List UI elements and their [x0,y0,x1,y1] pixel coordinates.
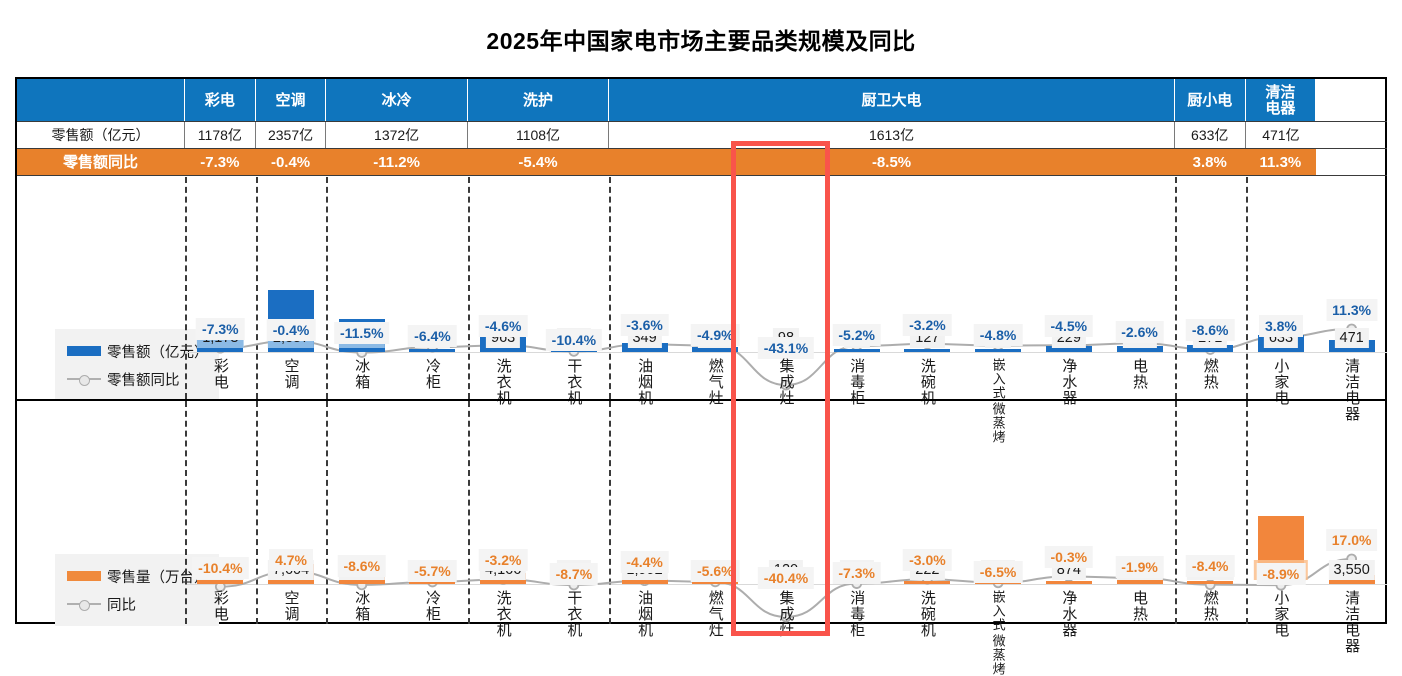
chart-column-3: 102-6.4%冷柜 [397,177,468,399]
chart-column-6: 349-3.6%油烟机 [609,177,680,399]
table-cell-yoy-5: 3.8% [1175,149,1246,176]
chart-column-10: 127-3.2%洗碗机 [892,177,963,399]
chart-column-10: 222-3.0%洗碗机 [892,401,963,622]
legend-line-marker-icon [67,599,101,609]
plot-area-retail-amount: 1,178-7.3%彩电2,357-0.4%空调1,271-11.5%冰箱102… [185,177,1387,399]
chart-column-7: 2,291-5.6%燃气灶 [680,401,751,622]
chart-column-11: 83-4.8%微蒸烤嵌入式 [963,177,1034,399]
x-axis-label-part: 嵌入式 [992,590,1005,632]
pct-label-14: -8.4% [1186,555,1235,577]
chart-column-12: 229-4.5%净水器 [1033,177,1104,399]
legend-label-amount-line: 零售额同比 [107,369,180,390]
table-cell-value-4: 1613亿 [609,122,1175,149]
table-header-group-2: 冰冷 [326,79,467,122]
chart-column-13: 1,768-1.9%电热 [1104,401,1175,622]
table-cell-yoy-6: 11.3% [1246,149,1317,176]
chart-column-14: 271-8.6%燃热 [1175,177,1246,399]
table-cell-value-3: 1108亿 [468,122,609,149]
chart-retail-volume: 零售量（万台） 同比 2,763-10.4%彩电7,6044.7%空调3,682… [17,399,1387,622]
x-axis-label-14: 燃热 [1203,590,1218,622]
table-cell-yoy-1: -0.4% [256,149,327,176]
table-cell-value-1: 2357亿 [256,122,327,149]
pct-label-16: 11.3% [1326,299,1377,321]
table-header-group-3: 洗护 [468,79,609,122]
x-axis-label-13: 电热 [1132,590,1147,622]
legend-label-volume-line: 同比 [107,594,136,615]
x-axis-label-15: 小家电 [1273,590,1288,638]
chart-retail-amount: 零售额（亿元） 零售额同比 1,178-7.3%彩电2,357-0.4%空调1,… [17,177,1387,399]
x-axis-label-11: 微蒸烤嵌入式 [992,590,1005,676]
x-axis-label-10: 洗碗机 [920,590,935,638]
chart-column-3: 785-5.7%冷柜 [397,401,468,622]
bar-9 [834,349,880,352]
pct-label-4: -4.6% [479,315,528,337]
x-axis-label-16: 清洁电器 [1344,590,1359,654]
plot-area-retail-volume: 2,763-10.4%彩电7,6044.7%空调3,682-8.6%冰箱785-… [185,401,1387,622]
pct-label-12: -0.3% [1045,546,1094,568]
table-corner-cell [17,79,185,122]
table-header-group-1: 空调 [256,79,327,122]
pct-label-3: -6.4% [408,325,457,347]
pct-label-13: -2.6% [1115,321,1164,343]
pct-label-15: 3.8% [1259,315,1303,337]
x-axis-label-part: 嵌入式 [992,358,1005,400]
table-header-group-6: 清洁 电器 [1246,79,1317,122]
pct-label-0: -7.3% [196,318,245,340]
chart-column-11: 130-6.5%微蒸烤嵌入式 [963,401,1034,622]
table-cell-yoy-4: -8.5% [609,149,1175,176]
table-cell-value-0: 1178亿 [185,122,256,149]
x-axis-label-4: 洗衣机 [496,590,511,638]
bar-12 [1046,581,1092,584]
chart-column-2: 1,271-11.5%冰箱 [326,177,397,399]
chart-column-2: 3,682-8.6%冰箱 [326,401,397,622]
table-cell-yoy-0: -7.3% [185,149,256,176]
chart-frame: 彩电空调冰冷洗护厨卫大电厨小电清洁 电器 零售额（亿元）1178亿2357亿13… [15,77,1387,624]
legend-swatch-bar-icon [67,571,101,581]
x-axis-label-9: 消毒柜 [849,590,864,638]
chart-column-15: 6333.8%小家电 [1246,177,1317,399]
x-axis-label-5: 干衣机 [566,590,581,638]
pct-label-8: -40.4% [758,567,814,589]
chart-column-8: 98-43.1%集成灶 [751,177,822,399]
pct-label-4: -3.2% [479,549,528,571]
chart-column-16: 47111.3%清洁电器 [1316,177,1387,399]
pct-label-6: -4.4% [620,551,669,573]
table-cell-value-6: 471亿 [1246,122,1317,149]
chart-column-13: 229-2.6%电热 [1104,177,1175,399]
chart-column-0: 1,178-7.3%彩电 [185,177,256,399]
pct-label-3: -5.7% [408,560,457,582]
bar-3 [409,349,455,352]
x-axis-label-3: 冷柜 [425,590,440,622]
pct-label-16: 17.0% [1326,529,1378,551]
pct-label-11: -6.5% [974,561,1023,583]
table-row-retail-value: 零售额（亿元）1178亿2357亿1372亿1108亿1613亿633亿471亿 [17,122,1387,149]
pct-label-6: -3.6% [620,314,669,336]
pct-label-12: -4.5% [1045,315,1094,337]
chart-column-4: 4,166-3.2%洗衣机 [468,401,539,622]
x-axis-label-13: 电热 [1132,358,1147,390]
pct-label-2: -11.5% [334,322,390,344]
legend-swatch-bar-icon [67,346,101,356]
table-row-retail-yoy: 零售额同比-7.3%-0.4%-11.2%-5.4%-8.5%3.8%11.3% [17,149,1387,176]
x-axis-label-2: 冰箱 [354,358,369,390]
chart-column-6: 1,992-4.4%油烟机 [609,401,680,622]
chart-column-14: 1,230-8.4%燃热 [1175,401,1246,622]
bar-10 [904,349,950,352]
table-header-group-0: 彩电 [185,79,256,122]
pct-label-2: -8.6% [337,555,386,577]
chart-column-9: 349-7.3%消毒柜 [821,401,892,622]
x-axis-label-6: 油烟机 [637,590,652,638]
pct-label-7: -4.9% [691,324,740,346]
chart-column-1: 2,357-0.4%空调 [256,177,327,399]
bar-11 [975,349,1021,352]
page-title: 2025年中国家电市场主要品类规模及同比 [0,22,1402,56]
bar-value-label-16: 471 [1335,328,1369,348]
table-cell-value-5: 633亿 [1175,122,1246,149]
chart-column-8: 120-40.4%集成灶 [751,401,822,622]
table-cell-yoy-3: -5.4% [468,149,609,176]
table-header-group-4: 厨卫大电 [609,79,1175,122]
pct-label-11: -4.8% [974,324,1023,346]
pct-label-5: -8.7% [550,563,599,585]
pct-label-1: -0.4% [267,319,316,341]
pct-label-8: -43.1% [758,337,814,359]
table-header-group-5: 厨小电 [1175,79,1246,122]
pct-label-10: -3.0% [903,549,952,571]
pct-label-9: -7.3% [832,562,881,584]
x-axis-label-part: 微蒸烤 [992,634,1005,676]
table-cell-yoy-2: -11.2% [326,149,467,176]
chart-column-1: 7,6044.7%空调 [256,401,327,622]
x-axis-label-7: 燃气灶 [708,590,723,638]
pct-label-10: -3.2% [903,314,952,336]
x-axis-label-1: 空调 [284,590,299,622]
chart-column-5: 259-8.7%干衣机 [539,401,610,622]
table-header-categories: 彩电空调冰冷洗护厨卫大电厨小电清洁 电器 [17,79,1387,122]
pct-label-5: -10.4% [546,329,602,351]
pct-label-9: -5.2% [832,324,881,346]
pct-label-7: -5.6% [691,560,740,582]
chart-column-7: 194-4.9%燃气灶 [680,177,751,399]
pct-label-15: -8.9% [1257,563,1306,585]
row-label-retail-value: 零售额（亿元） [17,122,185,149]
chart-column-5: 145-10.4%干衣机 [539,177,610,399]
chart-column-15: 25,561-8.9%小家电 [1246,401,1317,622]
table-cell-value-2: 1372亿 [326,122,467,149]
pct-label-14: -8.6% [1186,319,1235,341]
x-axis-label-8: 集成灶 [778,590,793,638]
chart-column-0: 2,763-10.4%彩电 [185,401,256,622]
x-axis-label-2: 冰箱 [354,590,369,622]
pct-label-0: -10.4% [192,557,248,579]
chart-column-16: 3,55017.0%清洁电器 [1316,401,1387,622]
legend-line-marker-icon [67,374,101,384]
x-axis-label-12: 净水器 [1061,590,1076,638]
row-label-retail-yoy: 零售额同比 [17,149,185,176]
chart-column-9: 32-5.2%消毒柜 [821,177,892,399]
x-axis-label-1: 空调 [284,358,299,390]
chart-column-4: 963-4.6%洗衣机 [468,177,539,399]
bar-14 [1187,581,1233,584]
x-axis-label-14: 燃热 [1203,358,1218,390]
x-axis-label-3: 冷柜 [425,358,440,390]
bar-10 [904,581,950,584]
x-axis-label-0: 彩电 [213,358,228,390]
pct-label-1: 4.7% [269,549,313,571]
bar-value-label-16: 3,550 [1328,560,1374,580]
pct-label-13: -1.9% [1115,556,1164,578]
chart-column-12: 874-0.3%净水器 [1033,401,1104,622]
x-axis-label-0: 彩电 [213,590,228,622]
